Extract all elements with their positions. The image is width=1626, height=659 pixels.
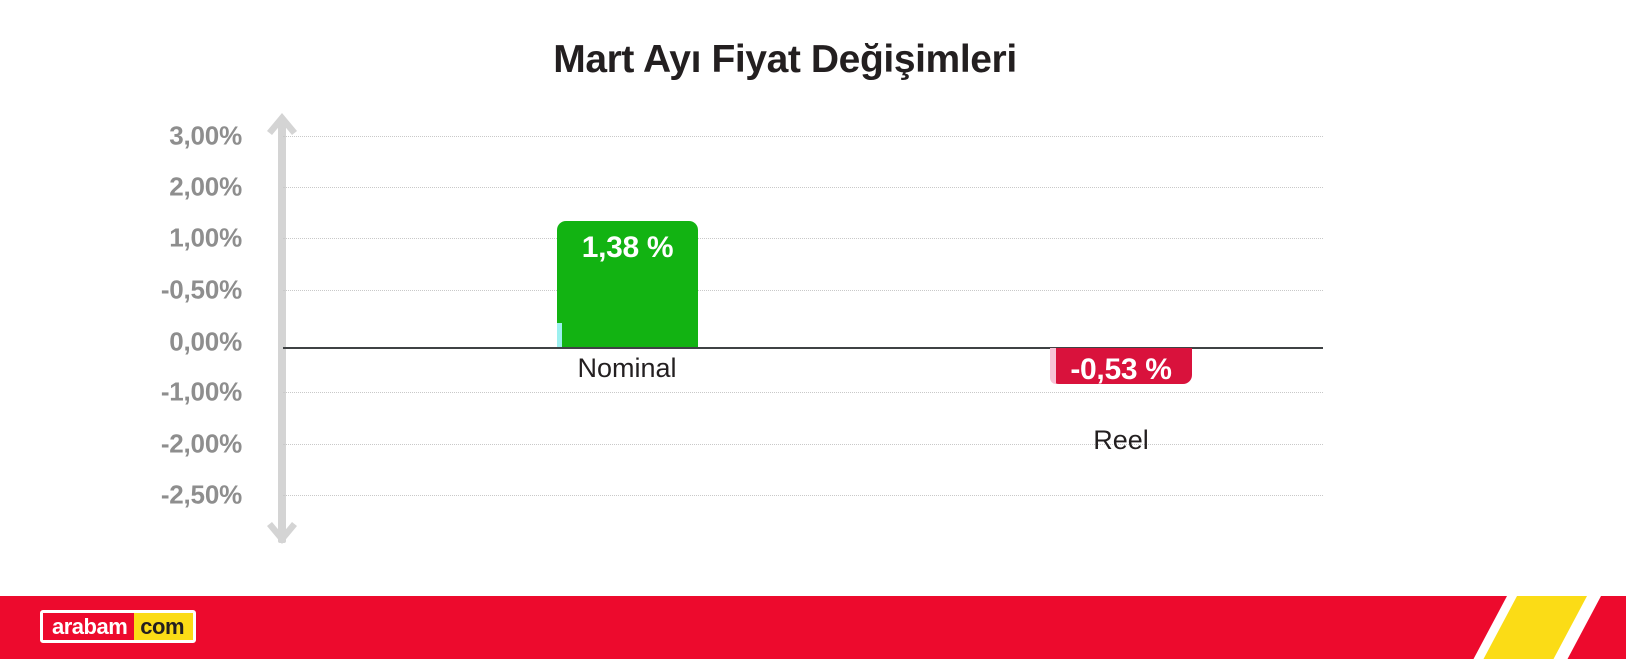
y-tick-label-0: 3,00%	[42, 121, 242, 152]
footer-bar: arabam com	[0, 596, 1626, 659]
gridline-3	[283, 136, 1323, 137]
bar-nominal-edge-highlight	[557, 323, 562, 347]
chart-canvas: Mart Ayı Fiyat Değişimleri 3,00% 2,00% 1…	[0, 0, 1626, 659]
bar-reel-value-label: -0,53 %	[1050, 353, 1192, 387]
plot-area: 3,00% 2,00% 1,00% -0,50% 0,00% -1,00% -2…	[0, 0, 1626, 580]
gridline-2	[283, 187, 1323, 188]
axis-arrow-up-icon	[265, 112, 299, 136]
gridline-neg2	[283, 444, 1323, 445]
gridline-neg25	[283, 495, 1323, 496]
gridline-1	[283, 238, 1323, 239]
logo-text-com: com	[134, 613, 193, 640]
y-tick-label-1: 2,00%	[42, 172, 242, 203]
y-axis-line	[278, 118, 286, 543]
y-tick-label-3: -0,50%	[42, 275, 242, 306]
logo-text-arabam: arabam	[43, 613, 134, 640]
bar-reel[interactable]: -0,53 %	[1050, 348, 1192, 384]
axis-arrow-down-icon	[265, 521, 299, 545]
y-tick-label-6: -2,00%	[42, 429, 242, 460]
category-label-nominal: Nominal	[577, 353, 676, 384]
bar-nominal[interactable]: 1,38 %	[557, 221, 698, 347]
y-tick-label-5: -1,00%	[42, 377, 242, 408]
bar-nominal-value-label: 1,38 %	[557, 231, 698, 265]
y-tick-label-4: 0,00%	[42, 327, 242, 358]
footer-red-band	[0, 596, 1460, 659]
y-tick-label-7: -2,50%	[42, 480, 242, 511]
arabam-com-logo[interactable]: arabam com	[40, 610, 196, 643]
category-label-reel: Reel	[1093, 425, 1149, 456]
y-tick-label-2: 1,00%	[42, 223, 242, 254]
gridline-neg1	[283, 392, 1323, 393]
gridline-neg05	[283, 290, 1323, 291]
